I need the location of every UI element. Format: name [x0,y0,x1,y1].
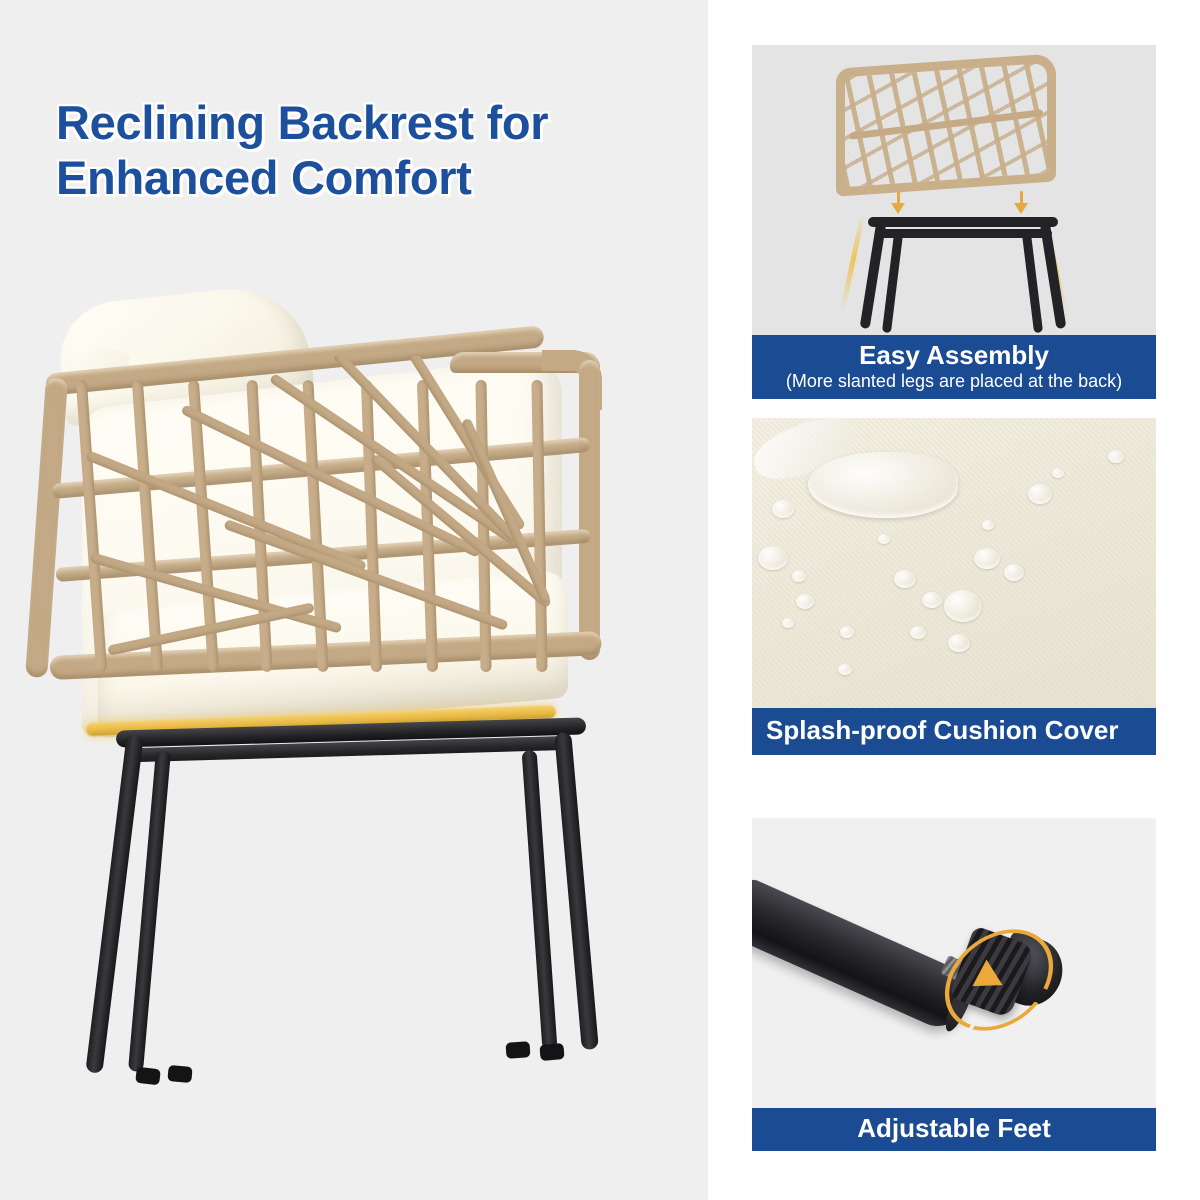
caption-splash-title: Splash-proof Cushion Cover [766,715,1148,746]
water-drop [922,592,942,608]
rattan-weave [836,53,1056,196]
hero-panel: Reclining Backrest for Enhanced Comfort [0,0,708,1200]
feature-panel-splash: Splash-proof Cushion Cover [752,418,1156,755]
water-drop [1108,450,1124,463]
water-drop [792,570,806,582]
water-drop [974,548,1000,569]
leg-foot-rear-left [167,1065,192,1083]
feature-panel-assembly: Easy Assembly (More slanted legs are pla… [752,45,1156,399]
hero-chair-image [20,290,660,1100]
headline-line-2: Enhanced Comfort [56,151,676,206]
water-drop [796,594,814,609]
rattan-seat-body [836,61,1056,189]
splash-photo [752,418,1156,708]
frame-leg-2 [882,233,903,333]
frame-top-bar [868,217,1058,227]
leg-foot-front-right [539,1043,564,1061]
water-drop [1028,484,1052,504]
water-puddle [808,452,958,518]
leg-foot-front-left [135,1067,161,1086]
feature-panel-column: Easy Assembly (More slanted legs are pla… [752,0,1156,1200]
page-title: Reclining Backrest for Enhanced Comfort [56,96,676,206]
water-drop [1004,564,1024,581]
frame-leg-1 [860,221,887,329]
headline-line-1: Reclining Backrest for [56,96,548,149]
caption-splash: Splash-proof Cushion Cover [752,708,1156,755]
caption-feet-title: Adjustable Feet [756,1113,1152,1144]
water-drop [878,534,890,544]
leg-front-right [554,732,599,1050]
product-feature-image: Reclining Backrest for Enhanced Comfort [0,0,1200,1200]
caption-assembly: Easy Assembly (More slanted legs are pla… [752,335,1156,399]
leg-rear-right [522,750,558,1050]
leg-foot-rear-right [505,1041,530,1059]
water-drop [910,626,926,639]
rattan-frame [46,356,602,736]
water-drop [782,618,794,628]
frame-leg-4 [1022,233,1043,333]
metal-leg-assembly [20,720,660,1100]
water-drop [840,626,854,638]
caption-assembly-title: Easy Assembly [756,340,1152,371]
water-drop [838,664,852,675]
water-drop [982,520,994,530]
water-drop [894,570,916,588]
frame-leg-3 [1040,221,1067,329]
chair-leg-tube [752,877,977,1035]
weave-vertical-bars [46,356,602,686]
caption-feet: Adjustable Feet [752,1108,1156,1151]
water-drop [758,546,788,570]
water-drop [1052,468,1064,478]
water-drop [948,634,970,652]
feature-panel-feet: Adjustable Feet [752,818,1156,1151]
metal-leg-frame [862,201,1062,329]
caption-assembly-subtitle: (More slanted legs are placed at the bac… [756,371,1152,393]
assembly-photo [752,45,1156,335]
water-drop [944,590,982,622]
water-drop [772,500,794,518]
adjustable-foot-photo [752,818,1156,1108]
